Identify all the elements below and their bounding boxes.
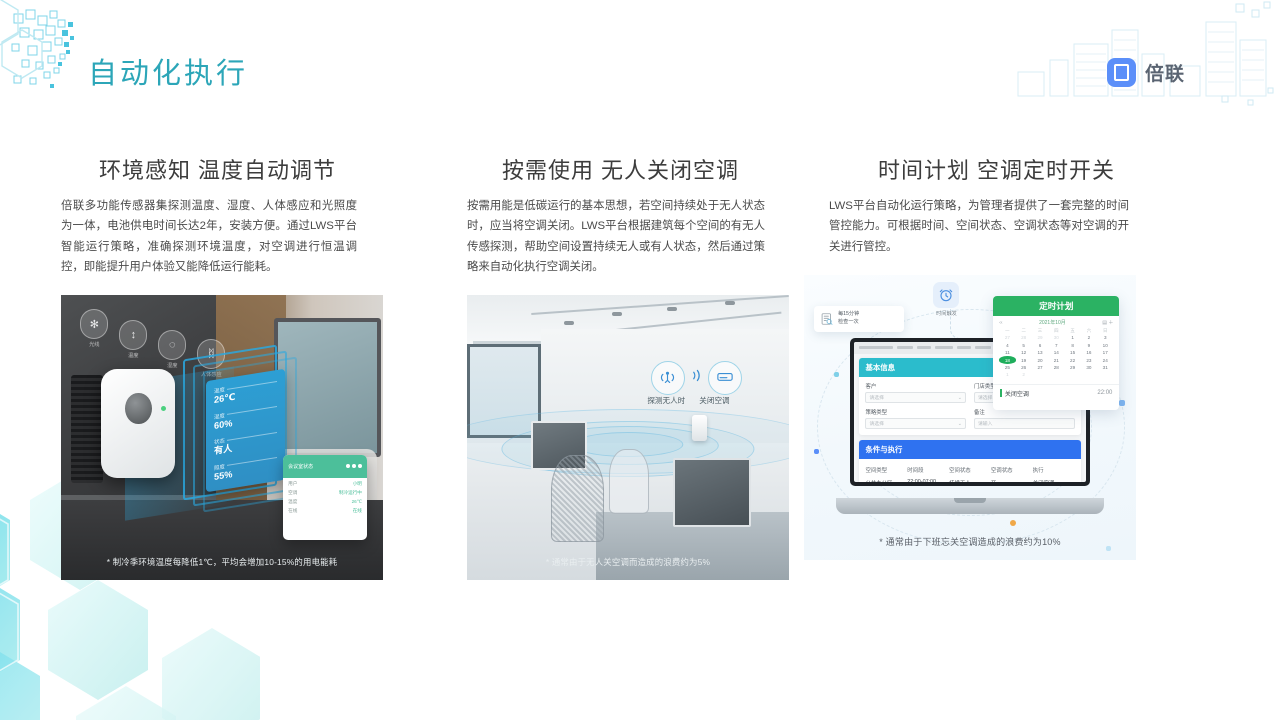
field-store-type-placeholder: 请选择 <box>978 394 992 401</box>
calendar-day[interactable]: 15 <box>1064 349 1080 356</box>
field-remark-input[interactable]: 请输入 <box>974 418 1075 429</box>
field-customer-label: 客户 <box>865 382 966 390</box>
field-strategy-type-select[interactable]: 请选择 ⌄ <box>865 418 966 429</box>
col-time-range: 时间段 <box>907 463 949 476</box>
schedule-plan-card: 定时计划 ‹‹ 2021年10月 ▤ ＋ 一 二 三 四 五 <box>993 296 1119 410</box>
calendar-day[interactable]: 12 <box>1016 349 1032 356</box>
calendar-day[interactable]: 2 <box>1081 334 1097 341</box>
reading-status: 状态 有人 <box>214 428 277 457</box>
calendar-day[interactable]: 31 <box>1097 364 1113 371</box>
figure-3-caption: * 通常由于下班忘关空调造成的浪费约为10% <box>804 535 1136 548</box>
feature-column-1: 环境感知 温度自动调节 倍联多功能传感器集探测温度、湿度、人体感应和光照度为一体… <box>35 160 425 580</box>
calendar-day[interactable]: 20 <box>1032 356 1048 363</box>
calendar-day[interactable]: 18 <box>999 356 1015 363</box>
column-1-body: 倍联多功能传感器集探测温度、湿度、人体感应和光照度为一体，电池供电时间长达2年，… <box>61 196 357 277</box>
column-3-heading: 时间计划 空调定时开关 <box>819 160 1174 182</box>
table-row: 公共办公区 22:00-07:00 持续无人 开 关闭空调 <box>865 476 1074 482</box>
column-1-heading: 环境感知 温度自动调节 <box>10 160 425 182</box>
figure-1-caption: * 制冷季环境温度每降低1℃，平均会增加10-15%的用电能耗 <box>61 556 383 568</box>
detect-unoccupied-label: 探测无人时 <box>647 395 685 406</box>
col-space-type: 空间类型 <box>865 463 907 476</box>
clock-icon <box>933 282 959 308</box>
occupancy-sensor-icon <box>651 361 685 395</box>
calendar-day[interactable]: 5 <box>1016 342 1032 349</box>
schedule-event-time: 22:00 <box>1097 390 1112 396</box>
calendar-actions[interactable]: ▤ ＋ <box>1102 319 1113 326</box>
calendar-day[interactable]: 7 <box>1048 342 1064 349</box>
condition-exec-title: 条件与执行 <box>859 440 1080 459</box>
field-customer-placeholder: 请选择 <box>869 394 883 401</box>
time-trigger-badge: 时间触发 <box>933 282 959 317</box>
condition-exec-card: 条件与执行 空间类型 时间段 空间状态 空调状态 执行 <box>859 440 1080 482</box>
cell-time-range: 22:00-07:00 <box>907 476 949 482</box>
laptop-base <box>836 498 1104 514</box>
multi-sensor-device <box>101 369 175 477</box>
field-strategy-type-label: 策略类型 <box>865 408 966 416</box>
field-strategy-type-placeholder: 请选择 <box>869 420 883 427</box>
cell-space-status: 持续无人 <box>949 476 991 482</box>
schedule-event-name: 关闭空调 <box>1005 389 1029 398</box>
calendar-day[interactable]: 17 <box>1097 349 1113 356</box>
turn-off-ac-label: 关闭空调 <box>699 395 729 406</box>
page-title: 自动化执行 <box>88 50 248 92</box>
check-interval-note: 每15分钟 检查一次 <box>814 306 904 332</box>
field-strategy-type: 策略类型 请选择 ⌄ <box>865 408 966 429</box>
pir-lens-icon <box>125 393 152 424</box>
window-controls-icon <box>346 464 362 468</box>
humidity-sensor-icon: ◌ <box>158 330 186 360</box>
feature-column-3: 时间计划 空调定时开关 LWS平台自动化运行策略，为管理者提供了一套完整的时间管… <box>804 160 1174 580</box>
table-header-row: 空间类型 时间段 空间状态 空调状态 执行 <box>865 463 1074 476</box>
calendar-day[interactable]: 8 <box>1064 342 1080 349</box>
calendar-day[interactable]: 4 <box>999 342 1015 349</box>
calendar-day[interactable]: 1 <box>1064 334 1080 341</box>
calendar-day[interactable]: 26 <box>1016 364 1032 371</box>
calendar-day[interactable]: 21 <box>1048 356 1064 363</box>
temperature-sensor-label: 温度 <box>128 352 138 359</box>
calendar-month-label: 2021年10月 <box>1039 319 1066 326</box>
check-interval-text: 每15分钟 检查一次 <box>838 311 859 327</box>
schedule-plan-title: 定时计划 <box>993 296 1119 316</box>
calendar-day[interactable]: 28 <box>1048 364 1064 371</box>
time-trigger-label: 时间触发 <box>936 310 957 317</box>
air-conditioner-icon <box>708 361 742 395</box>
light-sensor-label: 光线 <box>89 341 99 348</box>
occupancy-action-labels: 探测无人时 关闭空调 <box>647 395 729 406</box>
room-row-key: 空调 <box>288 490 297 496</box>
calendar-day[interactable]: 24 <box>1097 356 1113 363</box>
col-action: 执行 <box>1033 463 1075 476</box>
room-row-key: 在线 <box>288 508 297 514</box>
accent-dot <box>814 449 819 454</box>
calendar-day[interactable]: 27 <box>1032 364 1048 371</box>
brand-name: 倍联 <box>1145 59 1185 86</box>
reading-humidity: 湿度 60% <box>214 403 277 432</box>
reading-temperature: 温度 26℃ <box>214 377 277 406</box>
field-remark: 备注 请输入 <box>974 408 1075 429</box>
brand-mark-icon <box>1107 58 1136 87</box>
calendar-prev-button[interactable]: ‹‹ <box>999 320 1002 326</box>
calendar-days[interactable]: 2728293012345678910111213141516171819202… <box>999 334 1113 378</box>
room-status-panel: 会议室状态 用户小明 空调制冷运行中 温度26℃ 在线在线 <box>283 455 367 541</box>
figure-2-caption: * 通常由于无人关空调而造成的浪费约为5% <box>467 556 789 568</box>
field-remark-placeholder: 请输入 <box>978 420 992 427</box>
column-2-heading: 按需使用 无人关闭空调 <box>443 160 798 182</box>
calendar-day[interactable]: 30 <box>1081 364 1097 371</box>
calendar-day[interactable]: 19 <box>1016 356 1032 363</box>
room-row-value: 制冷运行中 <box>339 490 362 496</box>
chevron-down-icon: ⌄ <box>958 421 962 427</box>
condition-exec-table: 空间类型 时间段 空间状态 空调状态 执行 公共办公区 22:00-07:00 <box>859 459 1080 482</box>
calendar-day[interactable]: 13 <box>1032 349 1048 356</box>
calendar-day[interactable]: 16 <box>1081 349 1097 356</box>
col-ac-status: 空调状态 <box>991 463 1033 476</box>
figure-schedule-ui: 每15分钟 检查一次 时间触发 <box>804 275 1136 560</box>
field-customer: 客户 请选择 ⌄ <box>865 382 966 403</box>
sensor-readings-card: 温度 26℃ 湿度 60% 状态 有人 照度 55% <box>206 369 285 493</box>
calendar-day[interactable]: 29 <box>1032 334 1048 341</box>
accent-dot <box>834 372 839 377</box>
pixel-pattern-decoration <box>10 8 100 100</box>
room-row-key: 用户 <box>288 481 297 487</box>
cell-action: 关闭空调 <box>1033 476 1075 482</box>
room-row-value: 小明 <box>353 481 362 487</box>
status-led-icon <box>161 406 166 411</box>
calendar-day[interactable]: 23 <box>1081 356 1097 363</box>
document-search-icon <box>820 312 834 326</box>
room-status-title: 会议室状态 <box>288 463 313 470</box>
field-customer-select[interactable]: 请选择 ⌄ <box>865 392 966 403</box>
column-3-body: LWS平台自动化运行策略，为管理者提供了一套完整的时间管控能力。可根据时间、空间… <box>829 196 1129 257</box>
occupancy-action-badges <box>651 361 742 395</box>
calendar-day[interactable]: 28 <box>1016 334 1032 341</box>
room-row-key: 温度 <box>288 499 297 505</box>
col-space-status: 空间状态 <box>949 463 991 476</box>
calendar-day[interactable]: 22 <box>1064 356 1080 363</box>
calendar-day[interactable]: 1 <box>999 371 1015 378</box>
room-row-value: 26℃ <box>352 499 362 505</box>
column-2-body: 按需用能是低碳运行的基本思想，若空间持续处于无人状态时，应当将空调关闭。LWS平… <box>467 196 765 277</box>
event-marker-icon <box>1000 389 1002 397</box>
cell-space-type: 公共办公区 <box>865 476 907 482</box>
cell-ac-status: 开 <box>991 476 1033 482</box>
figure-office-photo: 探测无人时 关闭空调 * 通常由于无人关空调而造成的浪费约为5% <box>467 295 789 580</box>
calendar: ‹‹ 2021年10月 ▤ ＋ 一 二 三 四 五 六 日 <box>993 316 1119 381</box>
ceiling-occupancy-sensor <box>692 415 706 441</box>
calendar-day[interactable]: 14 <box>1048 349 1064 356</box>
feature-column-2: 按需使用 无人关闭空调 按需用能是低碳运行的基本思想，若空间持续处于无人状态时，… <box>433 160 798 580</box>
reading-illuminance: 照度 55% <box>214 454 277 483</box>
calendar-day[interactable]: 6 <box>1032 342 1048 349</box>
calendar-day[interactable]: 27 <box>999 334 1015 341</box>
accent-dot <box>1010 520 1016 526</box>
humidity-sensor-label: 湿度 <box>167 362 177 369</box>
calendar-day[interactable]: 25 <box>999 364 1015 371</box>
temperature-sensor-icon: ↕ <box>119 320 147 350</box>
calendar-day[interactable]: 3 <box>1097 334 1113 341</box>
calendar-day[interactable]: 10 <box>1097 342 1113 349</box>
schedule-event-row[interactable]: 关闭空调 22:00 <box>993 384 1119 402</box>
calendar-day[interactable]: 29 <box>1064 364 1080 371</box>
signal-wave-icon <box>691 369 702 387</box>
calendar-day[interactable]: 9 <box>1081 342 1097 349</box>
feature-columns: 环境感知 温度自动调节 倍联多功能传感器集探测温度、湿度、人体感应和光照度为一体… <box>0 160 1280 580</box>
slide: 自动化执行 倍联 环境感知 温度自动调节 倍联多功能传感器集探测温度、湿度、人体… <box>0 0 1280 720</box>
figure-sensor-photo: ✻ 光线 ↕ 温度 ◌ 湿度 ᛥ 人体感应 <box>61 295 383 580</box>
light-sensor-icon: ✻ <box>80 309 108 339</box>
calendar-day[interactable]: 30 <box>1048 334 1064 341</box>
calendar-day[interactable]: 11 <box>999 349 1015 356</box>
brand-logo: 倍联 <box>1107 58 1185 87</box>
chevron-down-icon: ⌄ <box>958 395 962 401</box>
calendar-day[interactable]: 2 <box>1016 371 1032 378</box>
room-row-value: 在线 <box>353 508 362 514</box>
